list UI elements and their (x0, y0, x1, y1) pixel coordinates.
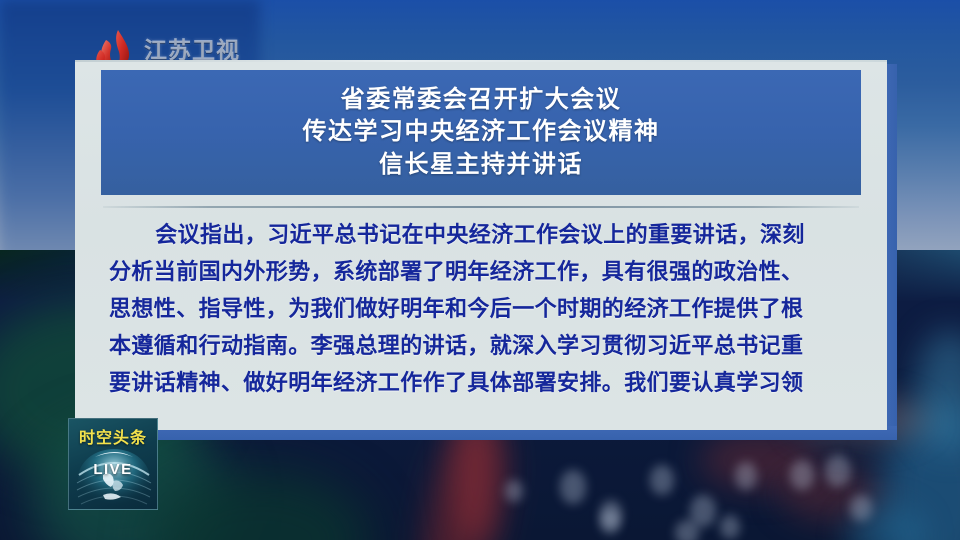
bokeh-dot (600, 510, 620, 534)
body-line-4: 本遵循和行动指南。李强总理的讲话，就深入学习贯彻习近平总书记重 (109, 327, 857, 364)
bokeh-dot (790, 460, 814, 490)
bokeh-dot (675, 520, 699, 540)
panel-face: 省委常委会召开扩大会议 传达学习中央经济工作会议精神 信长星主持并讲话 会议指出… (75, 60, 887, 430)
body-copy: 会议指出，习近平总书记在中央经济工作会议上的重要讲话，深刻 分析当前国内外形势，… (109, 216, 857, 401)
bokeh-dot (650, 465, 674, 495)
headline-box: 省委常委会召开扩大会议 传达学习中央经济工作会议精神 信长星主持并讲话 (101, 70, 861, 195)
bokeh-dot (850, 495, 872, 521)
bokeh-dot (720, 515, 740, 539)
panel-top-highlight (75, 60, 887, 62)
bokeh-dot (735, 462, 757, 490)
headline-line-2: 传达学习中央经济工作会议精神 (303, 116, 660, 149)
bokeh-dot (560, 470, 586, 504)
live-program-badge: 时空头条 LIVE (68, 418, 158, 510)
body-line-1: 会议指出，习近平总书记在中央经济工作会议上的重要讲话，深刻 (109, 216, 857, 253)
body-line-3: 思想性、指导性，为我们做好明年和今后一个时期的经济工作提供了根 (109, 290, 857, 327)
news-lower-third-panel: 省委常委会召开扩大会议 传达学习中央经济工作会议精神 信长星主持并讲话 会议指出… (75, 60, 895, 435)
live-badge-label: LIVE (69, 461, 157, 478)
body-line-5: 要讲话精神、做好明年经济工作作了具体部署安排。我们要认真学习领 (109, 364, 857, 401)
headline-line-1: 省委常委会召开扩大会议 (341, 84, 622, 117)
headline-body-separator (103, 206, 859, 208)
bokeh-dot (825, 455, 851, 487)
headline-line-3: 信长星主持并讲话 (379, 149, 583, 182)
body-line-2: 分析当前国内外形势，系统部署了明年经济工作，具有很强的政治性、 (109, 253, 857, 290)
bokeh-dot (505, 480, 523, 502)
